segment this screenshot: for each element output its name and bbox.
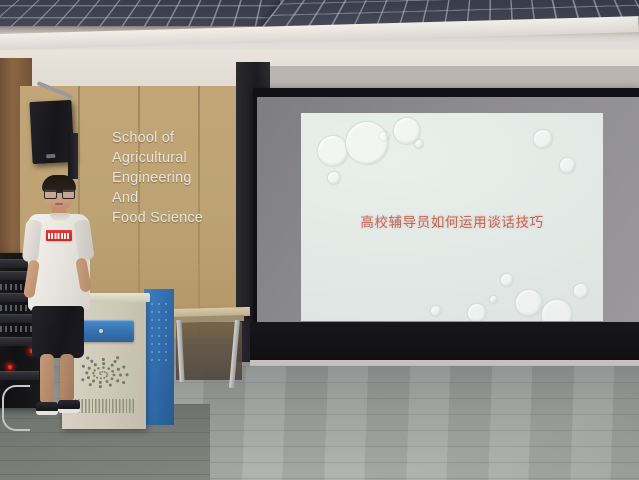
presenter-leg-right (60, 354, 74, 402)
lectern-side-panel (144, 289, 174, 425)
projection-screen-surface: 高校辅导员如何运用谈话技巧 (257, 97, 639, 324)
signage-line-1: School of (112, 128, 203, 148)
wall-signage: School of Agricultural Engineering And F… (112, 128, 203, 228)
slide-bubble-decoration (345, 121, 389, 165)
eyeglasses-icon (44, 189, 74, 197)
slide-title: 高校辅导员如何运用谈话技巧 (301, 211, 603, 231)
speaker-bracket (68, 133, 78, 179)
projected-slide: 高校辅导员如何运用谈话技巧 (301, 113, 603, 321)
presenter-leg-left (40, 354, 54, 404)
signage-line-3: Engineering (112, 168, 203, 188)
slide-bubble-decoration (489, 295, 498, 304)
signage-line-4: And (112, 188, 203, 208)
slide-bubble-decoration (541, 299, 573, 321)
shirt-logo (46, 230, 72, 241)
screen-lower-skirt (250, 322, 639, 362)
presenter (26, 176, 92, 422)
slide-bubble-decoration (393, 117, 421, 145)
slide-bubble-decoration (573, 283, 589, 299)
projection-screen-frame: 高校辅导员如何运用谈话技巧 (253, 88, 639, 324)
presenter-shorts (32, 306, 84, 358)
signage-line-5: Food Science (112, 208, 203, 228)
slide-bubble-decoration (533, 129, 553, 149)
lock-icon (99, 329, 103, 333)
slide-bubble-decoration (559, 157, 576, 174)
slide-bubble-decoration (467, 303, 487, 321)
slide-bubble-decoration (515, 289, 543, 317)
speaker-badge (46, 154, 55, 158)
shirt-collar (50, 213, 70, 221)
slide-bubble-decoration (500, 273, 514, 287)
slide-bubble-decoration (327, 171, 341, 185)
signage-line-2: Agricultural (112, 148, 203, 168)
slide-bubble-decoration (430, 305, 442, 317)
sandal-left (36, 402, 58, 412)
lectern-side-perforation (149, 301, 171, 367)
presenter-mouth (55, 203, 63, 205)
status-led (8, 365, 12, 369)
sandal-right (58, 400, 80, 410)
shirt-logo-wordmark (48, 233, 70, 239)
lecture-hall-photo: School of Agricultural Engineering And F… (0, 0, 639, 480)
